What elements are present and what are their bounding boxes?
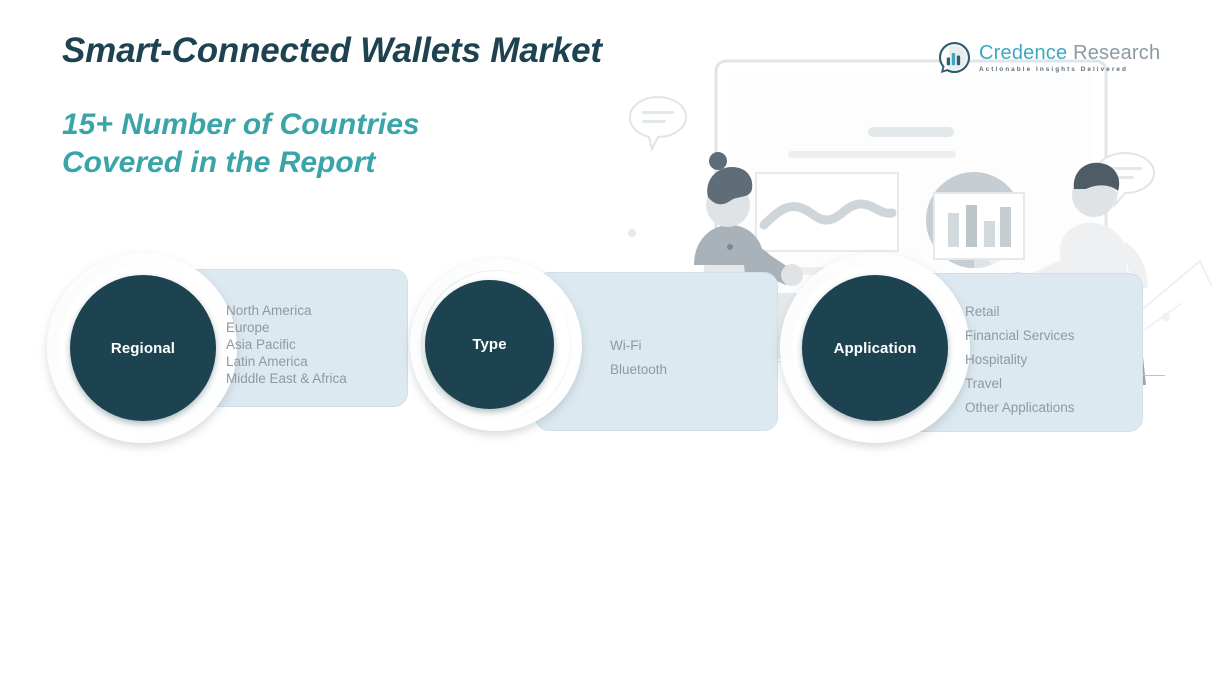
decorative-hairline: [1143, 375, 1165, 376]
card-regional-badge[interactable]: Regional: [70, 275, 216, 421]
card-regional-items: North America Europe Asia Pacific Latin …: [226, 302, 406, 387]
brand-tagline: Actionable Insights Delivered: [979, 66, 1160, 73]
card-type-label: Type: [472, 336, 506, 353]
card-application-badge[interactable]: Application: [802, 275, 948, 421]
brand-name-primary: Credence: [979, 42, 1067, 64]
pie-chart: [926, 172, 1022, 268]
card-type-badge[interactable]: Type: [425, 280, 554, 409]
speech-bubble-left: [630, 97, 686, 149]
board-subheader-bar: [788, 151, 956, 158]
card-application-label: Application: [834, 340, 917, 357]
speech-bubble-right: [1096, 153, 1154, 205]
line-chart-card: [756, 173, 898, 251]
brand-name-secondary: Research: [1073, 42, 1160, 64]
page-subtitle: 15+ Number of Countries Covered in the R…: [62, 106, 420, 182]
card-regional-label: Regional: [111, 340, 175, 357]
card-type-items: Wi-Fi Bluetooth: [610, 334, 770, 382]
brand-logo: Credence Research Actionable Insights De…: [938, 41, 1160, 74]
page-title: Smart-Connected Wallets Market: [62, 31, 602, 71]
board-header-bar: [868, 127, 954, 137]
brand-name: Credence Research: [979, 43, 1160, 64]
card-application-items: Retail Financial Services Hospitality Tr…: [965, 300, 1150, 420]
chart-bubble-icon: [938, 41, 971, 74]
infographic-canvas: Smart-Connected Wallets Market 15+ Numbe…: [0, 0, 1212, 677]
bar-chart-card: [934, 193, 1024, 259]
